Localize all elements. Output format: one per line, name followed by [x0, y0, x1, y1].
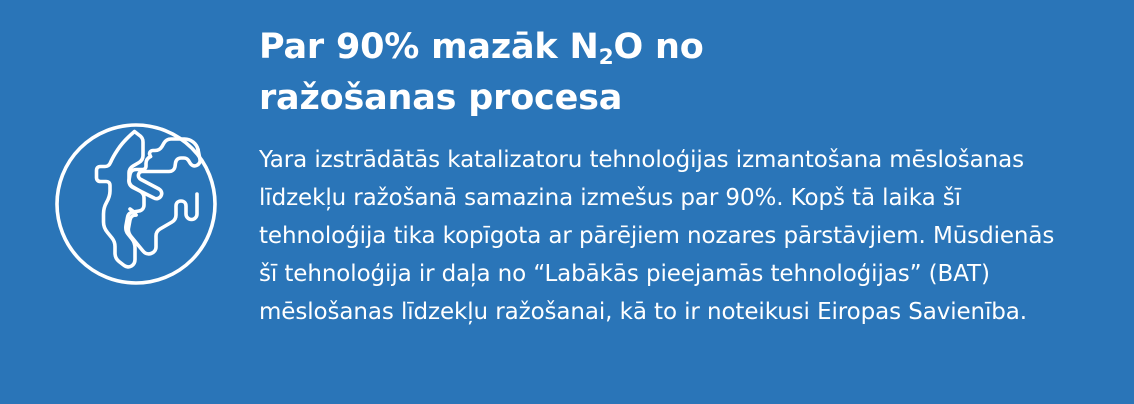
globe-icon — [50, 118, 222, 290]
page-title: Par 90% mazāk N2O no ražošanas procesa — [259, 24, 819, 122]
africa-outline — [128, 194, 197, 254]
headline-part-1: Par 90% mazāk N — [259, 27, 599, 67]
banner-text-column: Par 90% mazāk N2O no ražošanas procesa Y… — [259, 24, 1099, 331]
headline-subscript: 2 — [599, 45, 614, 70]
info-banner: Par 90% mazāk N2O no ražošanas procesa Y… — [0, 0, 1134, 404]
body-paragraph: Yara izstrādātās katalizatoru tehnoloģij… — [259, 122, 1059, 331]
americas-outline — [97, 132, 145, 267]
europe-outline — [129, 150, 200, 199]
